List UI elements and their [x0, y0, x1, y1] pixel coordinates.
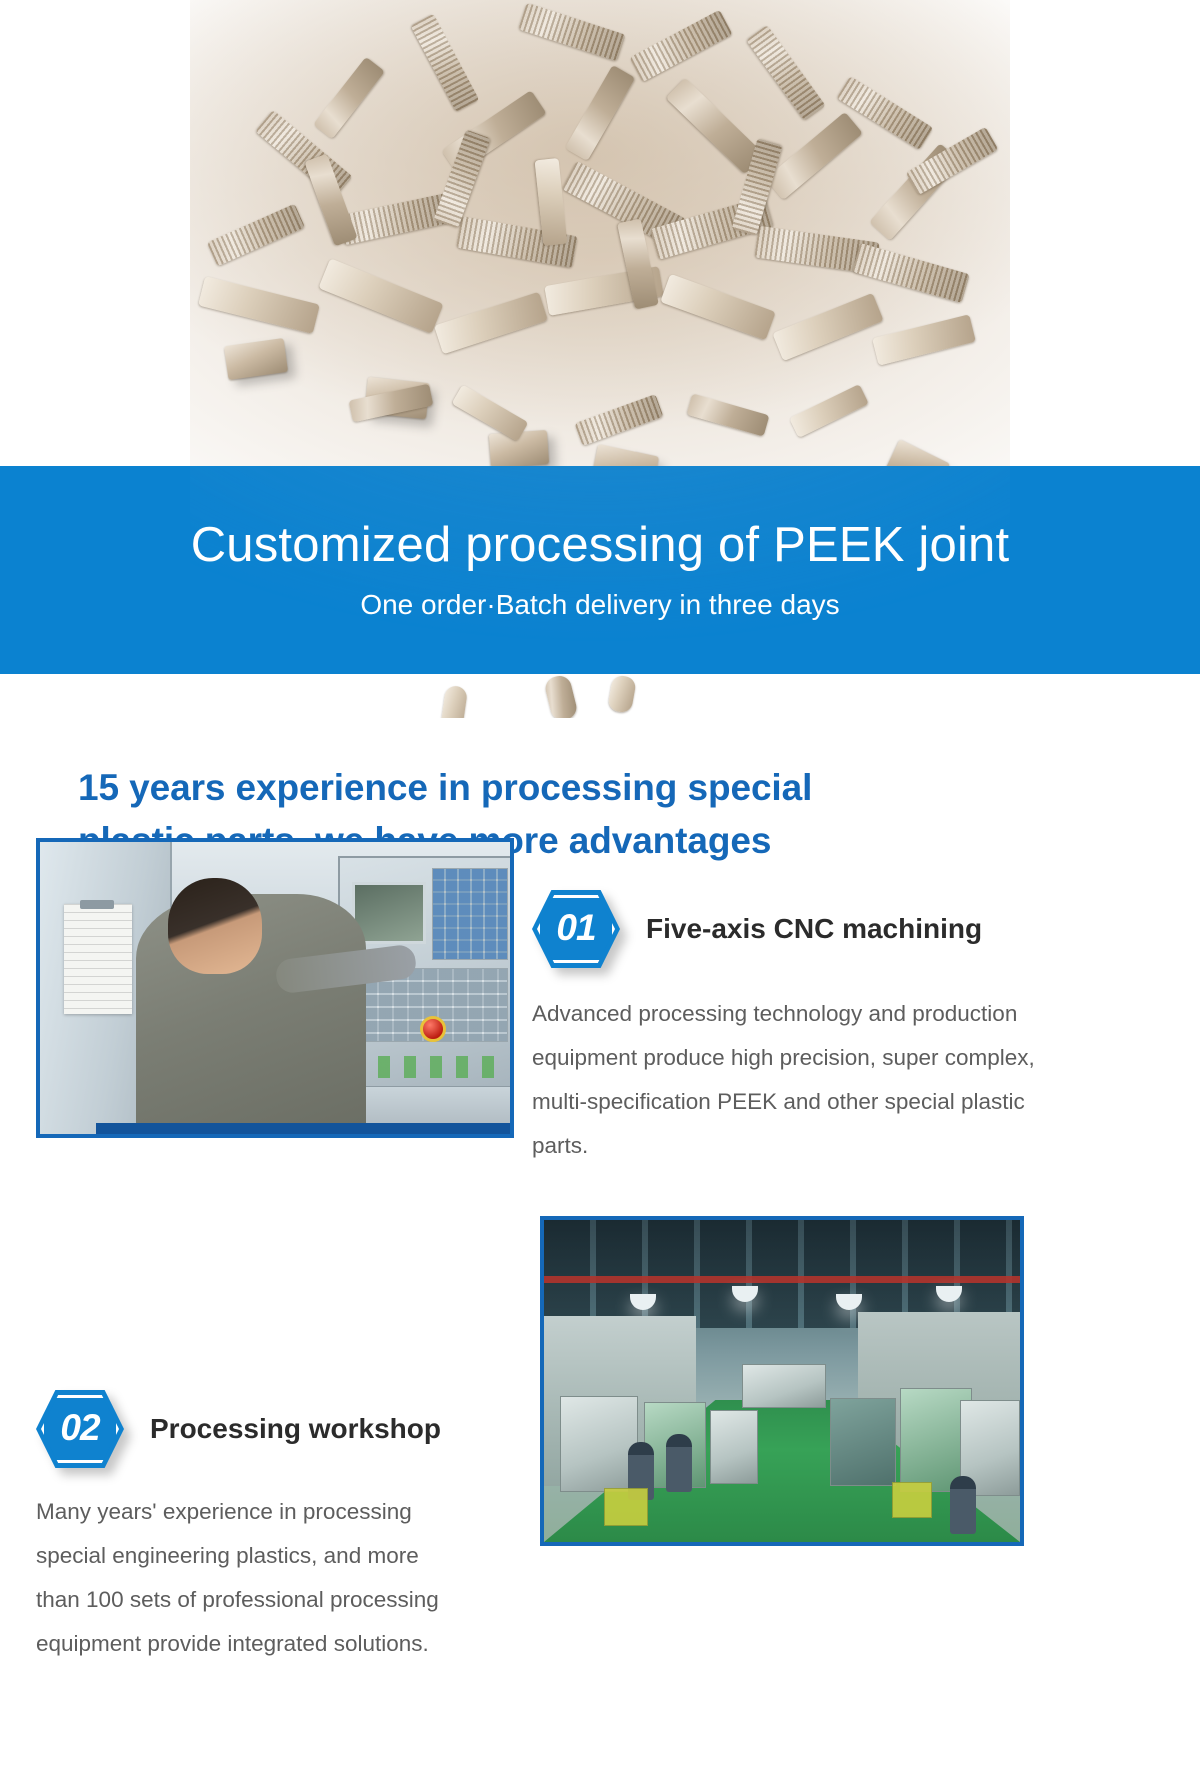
hero-photo-tail [0, 674, 1200, 718]
feature-01-body: 01 Five-axis CNC machining Advanced proc… [532, 890, 1072, 1168]
feature-01-photo [36, 838, 514, 1138]
feature-01-number: 01 [532, 890, 620, 968]
product-detail-page: Customized processing of PEEK joint One … [0, 0, 1200, 1772]
feature-02-header: 02 Processing workshop [36, 1390, 516, 1468]
feature-02-photo [540, 1216, 1024, 1546]
banner-subtitle: One order·Batch delivery in three days [360, 589, 839, 621]
feature-02-body: 02 Processing workshop Many years' exper… [36, 1390, 516, 1666]
hero-banner: Customized processing of PEEK joint One … [0, 466, 1200, 674]
feature-01-title: Five-axis CNC machining [646, 913, 982, 945]
feature-01-text: Advanced processing technology and produ… [532, 992, 1052, 1168]
section-heading-line-1: 15 years experience in processing specia… [78, 762, 1088, 815]
hero-photo-tail-parts [190, 674, 1010, 718]
workshop-image [544, 1220, 1020, 1542]
feature-02-text: Many years' experience in processing spe… [36, 1490, 456, 1666]
feature-02-title: Processing workshop [150, 1413, 441, 1445]
feature-02-number: 02 [36, 1390, 124, 1468]
cnc-machining-image [40, 842, 510, 1134]
feature-01-header: 01 Five-axis CNC machining [532, 890, 1072, 968]
hexagon-badge-icon: 01 [532, 890, 620, 968]
banner-title: Customized processing of PEEK joint [191, 519, 1010, 572]
hexagon-badge-icon: 02 [36, 1390, 124, 1468]
